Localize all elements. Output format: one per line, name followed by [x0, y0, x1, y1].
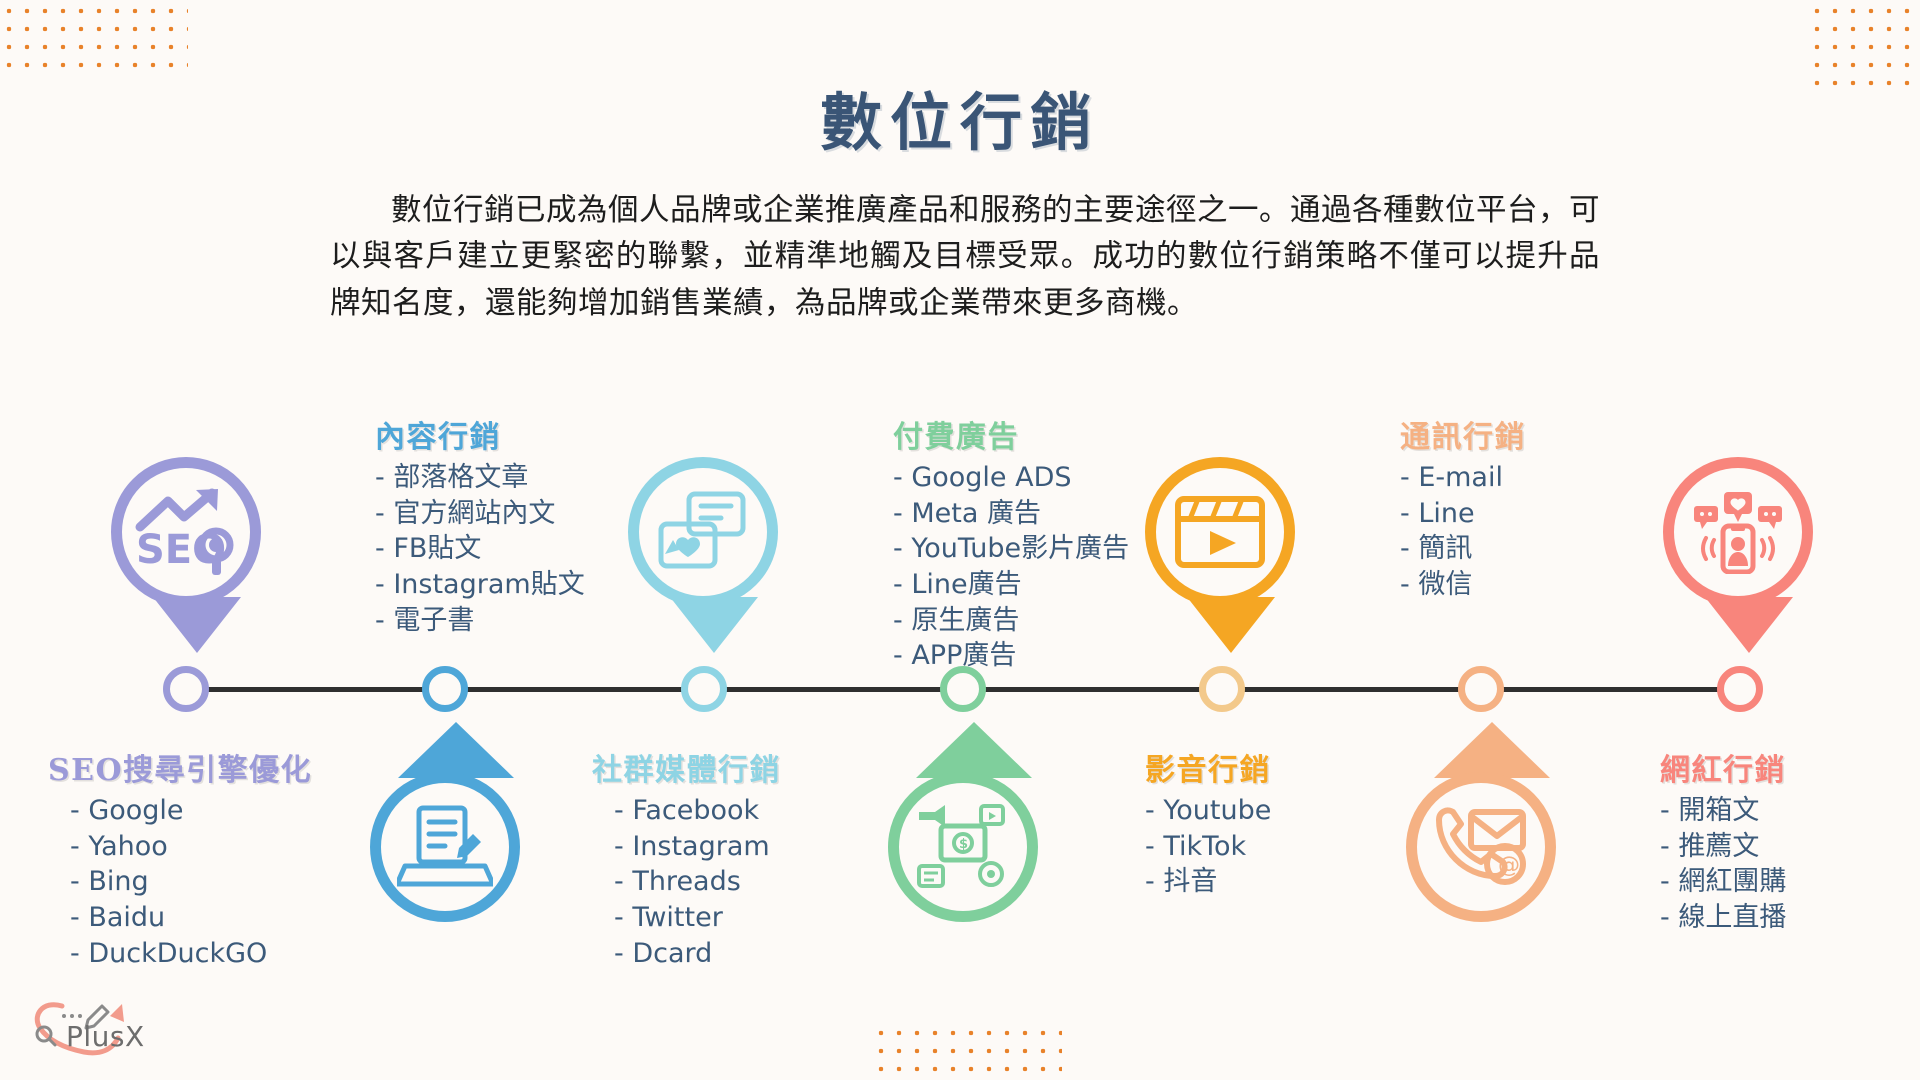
- paid-circle: $: [888, 772, 1038, 922]
- list-item: - Facebook: [614, 793, 781, 829]
- seo-pin-tail: [153, 597, 241, 653]
- timeline-dot-video: [1199, 666, 1245, 712]
- video-pin-tail: [1187, 597, 1275, 653]
- paid-triangle: [916, 722, 1032, 778]
- social-pin-tail: [670, 597, 758, 653]
- list-item: - 原生廣告: [893, 603, 1129, 639]
- video-pin: [1145, 457, 1295, 607]
- section-video: 影音行銷 - Youtube - TikTok - 抖音: [1145, 745, 1271, 900]
- list-item: - Threads: [614, 864, 781, 900]
- seo-pin: SEO: [111, 457, 261, 607]
- list-item: - APP廣告: [893, 638, 1129, 674]
- influencer-pin: [1663, 457, 1813, 607]
- marker-content: [370, 722, 542, 937]
- section-paid: 付費廣告 - Google ADS - Meta 廣告 - YouTube影片廣…: [893, 412, 1129, 674]
- list-item: - Instagram貼文: [375, 567, 585, 603]
- list-item: - TikTok: [1145, 829, 1271, 865]
- marker-video: [1145, 457, 1317, 672]
- list-item: - 推薦文: [1660, 829, 1786, 865]
- list-item: - FB貼文: [375, 531, 585, 567]
- marker-paid: $: [888, 722, 1060, 937]
- phone-envelope-at-icon: @: [1431, 806, 1531, 888]
- content-triangle: [398, 722, 514, 778]
- section-comms: 通訊行銷 - E-mail - Line - 簡訊 - 微信: [1400, 412, 1526, 603]
- plusx-logo: PlusX: [18, 994, 158, 1070]
- section-title-social: 社群媒體行銷: [592, 745, 781, 789]
- svg-text:@: @: [1498, 853, 1520, 878]
- social-pin: [628, 457, 778, 607]
- list-item: - E-mail: [1400, 460, 1526, 496]
- section-list-influencer: - 開箱文 - 推薦文 - 網紅團購 - 線上直播: [1660, 793, 1786, 936]
- section-list-content: - 部落格文章 - 官方網站內文 - FB貼文 - Instagram貼文 - …: [375, 460, 585, 638]
- list-item: - Yahoo: [70, 829, 312, 865]
- list-item: - Youtube: [1145, 793, 1271, 829]
- comms-triangle: [1434, 722, 1550, 778]
- section-title-influencer: 網紅行銷: [1660, 745, 1786, 789]
- laptop-document-pen-icon: [397, 804, 493, 890]
- dot-pattern-bottom-center: [872, 1024, 1062, 1072]
- section-seo: SEO搜尋引擎優化 - Google - Yahoo - Bing - Baid…: [48, 745, 312, 971]
- list-item: - Bing: [70, 864, 312, 900]
- section-title-content: 內容行銷: [375, 412, 585, 456]
- marker-social: [628, 457, 800, 672]
- timeline-dot-seo: [163, 666, 209, 712]
- section-list-seo: - Google - Yahoo - Bing - Baidu - DuckDu…: [48, 793, 312, 971]
- section-influencer: 網紅行銷 - 開箱文 - 推薦文 - 網紅團購 - 線上直播: [1660, 745, 1786, 936]
- marker-influencer: [1663, 457, 1835, 672]
- timeline-dot-comms: [1458, 666, 1504, 712]
- section-title-seo: SEO搜尋引擎優化: [48, 745, 312, 789]
- list-item: - 簡訊: [1400, 531, 1526, 567]
- section-content: 內容行銷 - 部落格文章 - 官方網站內文 - FB貼文 - Instagram…: [375, 412, 585, 638]
- list-item: - Google ADS: [893, 460, 1129, 496]
- list-item: - Twitter: [614, 900, 781, 936]
- list-item: - 電子書: [375, 603, 585, 639]
- list-item: - 部落格文章: [375, 460, 585, 496]
- section-social: 社群媒體行銷 - Facebook - Instagram - Threads …: [592, 745, 781, 971]
- chat-bubbles-heart-icon: [655, 490, 751, 574]
- list-item: - Baidu: [70, 900, 312, 936]
- timeline-dot-social: [681, 666, 727, 712]
- section-list-social: - Facebook - Instagram - Threads - Twitt…: [592, 793, 781, 971]
- dot-pattern-top-left: [0, 2, 188, 80]
- timeline-dot-influencer: [1717, 666, 1763, 712]
- list-item: - 線上直播: [1660, 900, 1786, 936]
- list-item: - Line: [1400, 496, 1526, 532]
- section-title-video: 影音行銷: [1145, 745, 1271, 789]
- page-title: 數位行銷: [0, 72, 1920, 162]
- list-item: - Instagram: [614, 829, 781, 865]
- section-list-video: - Youtube - TikTok - 抖音: [1145, 793, 1271, 900]
- list-item: - YouTube影片廣告: [893, 531, 1129, 567]
- comms-circle: @: [1406, 772, 1556, 922]
- marker-seo: SEO: [111, 457, 283, 672]
- plusx-logo-text: PlusX: [66, 1020, 145, 1053]
- section-list-comms: - E-mail - Line - 簡訊 - 微信: [1400, 460, 1526, 603]
- marker-comms: @: [1406, 722, 1578, 937]
- list-item: - Meta 廣告: [893, 496, 1129, 532]
- video-play-clapperboard-icon: [1172, 493, 1268, 571]
- list-item: - 抖音: [1145, 864, 1271, 900]
- influencer-pin-tail: [1705, 597, 1793, 653]
- section-list-paid: - Google ADS - Meta 廣告 - YouTube影片廣告 - L…: [893, 460, 1129, 674]
- ads-monitor-megaphone-icon: $: [915, 804, 1011, 890]
- list-item: - 微信: [1400, 567, 1526, 603]
- list-item: - DuckDuckGO: [70, 936, 312, 972]
- timeline-dot-content: [422, 666, 468, 712]
- section-title-comms: 通訊行銷: [1400, 412, 1526, 456]
- list-item: - 開箱文: [1660, 793, 1786, 829]
- svg-text:$: $: [959, 837, 968, 852]
- phone-person-social-icon: [1690, 490, 1786, 574]
- seo-growth-magnifier-icon: SEO: [134, 487, 238, 577]
- content-circle: [370, 772, 520, 922]
- list-item: - Line廣告: [893, 567, 1129, 603]
- section-title-paid: 付費廣告: [893, 412, 1129, 456]
- list-item: - Dcard: [614, 936, 781, 972]
- list-item: - 官方網站內文: [375, 496, 585, 532]
- list-item: - 網紅團購: [1660, 864, 1786, 900]
- intro-paragraph: 數位行銷已成為個人品牌或企業推廣產品和服務的主要途徑之一。通過各種數位平台，可以…: [330, 188, 1600, 327]
- list-item: - Google: [70, 793, 312, 829]
